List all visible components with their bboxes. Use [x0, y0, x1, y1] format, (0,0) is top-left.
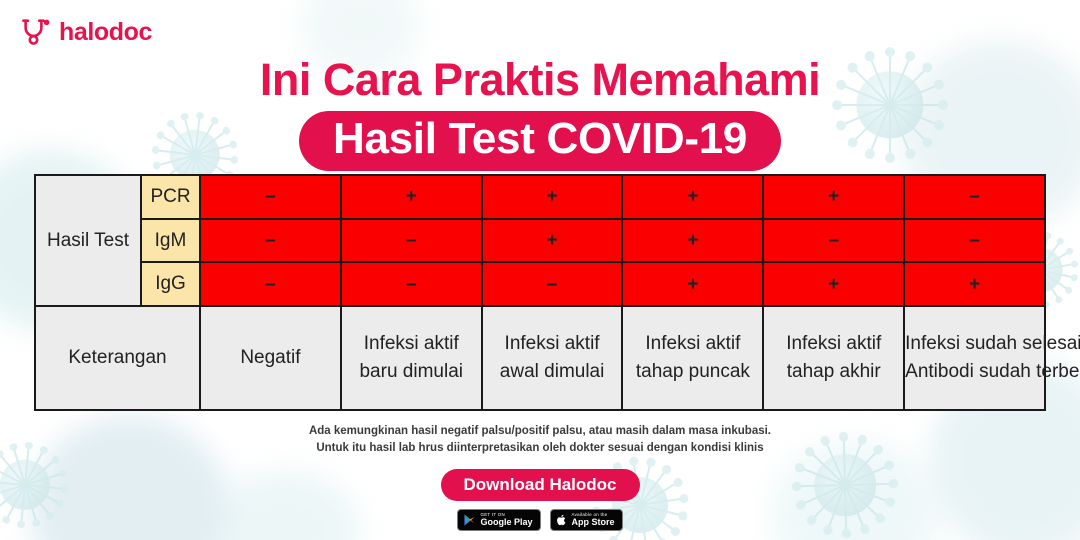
- page-title-line2-wrap: Hasil Test COVID-19: [0, 111, 1080, 171]
- table-row-igg: IgG – – – + + +: [35, 262, 1045, 306]
- cell-pcr-col5: +: [763, 175, 904, 219]
- apple-icon: [557, 514, 567, 526]
- cell-igg-col1: –: [200, 262, 341, 306]
- cell-igm-col3: +: [482, 219, 623, 263]
- note-col4: Infeksi aktif tahap puncak: [622, 306, 763, 410]
- page-title-line1: Ini Cara Praktis Memahami: [0, 56, 1080, 103]
- covid-test-result-table: Hasil Test PCR – + + + + – IgM – – + + –…: [34, 174, 1046, 411]
- footnote-line2: Untuk itu hasil lab hrus diinterpretasik…: [0, 440, 1080, 457]
- cell-igg-col3: –: [482, 262, 623, 306]
- assay-label-igg: IgG: [141, 262, 200, 306]
- cell-pcr-col3: +: [482, 175, 623, 219]
- brand-name: halodoc: [59, 20, 152, 45]
- cell-igg-col2: –: [341, 262, 482, 306]
- cell-igg-col6: +: [904, 262, 1045, 306]
- google-play-badge-label: Google Play: [480, 518, 532, 527]
- table-row-pcr: Hasil Test PCR – + + + + –: [35, 175, 1045, 219]
- cell-igm-col6: –: [904, 219, 1045, 263]
- note-col3: Infeksi aktif awal dimulai: [482, 306, 623, 410]
- row-group-label-hasil-test: Hasil Test: [35, 175, 141, 306]
- app-store-badge-label: App Store: [572, 518, 615, 527]
- store-badges: GET IT ON Google Play Available on the A…: [0, 509, 1080, 531]
- row-label-keterangan: Keterangan: [35, 306, 200, 410]
- cell-pcr-col4: +: [622, 175, 763, 219]
- stethoscope-icon: [22, 18, 52, 46]
- download-halodoc-button[interactable]: Download Halodoc: [441, 469, 640, 501]
- page-title-line2: Hasil Test COVID-19: [299, 111, 781, 171]
- infographic-canvas: halodoc Ini Cara Praktis Memahami Hasil …: [0, 0, 1080, 540]
- google-play-badge[interactable]: GET IT ON Google Play: [457, 509, 540, 531]
- google-play-icon: [464, 514, 475, 526]
- note-col5: Infeksi aktif tahap akhir: [763, 306, 904, 410]
- cell-igg-col5: +: [763, 262, 904, 306]
- cell-igm-col5: –: [763, 219, 904, 263]
- cell-igm-col4: +: [622, 219, 763, 263]
- footnote-line1: Ada kemungkinan hasil negatif palsu/posi…: [0, 423, 1080, 440]
- cell-pcr-col2: +: [341, 175, 482, 219]
- note-col1: Negatif: [200, 306, 341, 410]
- cell-pcr-col1: –: [200, 175, 341, 219]
- cell-igm-col1: –: [200, 219, 341, 263]
- cta-wrap: Download Halodoc: [0, 469, 1080, 501]
- disclaimer-footnote: Ada kemungkinan hasil negatif palsu/posi…: [0, 423, 1080, 456]
- note-col6: Infeksi sudah selesai Antibodi sudah ter…: [904, 306, 1045, 410]
- assay-label-pcr: PCR: [141, 175, 200, 219]
- note-col2: Infeksi aktif baru dimulai: [341, 306, 482, 410]
- cell-igg-col4: +: [622, 262, 763, 306]
- table-row-keterangan: Keterangan Negatif Infeksi aktif baru di…: [35, 306, 1045, 410]
- assay-label-igm: IgM: [141, 219, 200, 263]
- cell-igm-col2: –: [341, 219, 482, 263]
- cell-pcr-col6: –: [904, 175, 1045, 219]
- brand-logo[interactable]: halodoc: [22, 18, 152, 46]
- table-row-igm: IgM – – + + – –: [35, 219, 1045, 263]
- app-store-badge[interactable]: Available on the App Store: [550, 509, 623, 531]
